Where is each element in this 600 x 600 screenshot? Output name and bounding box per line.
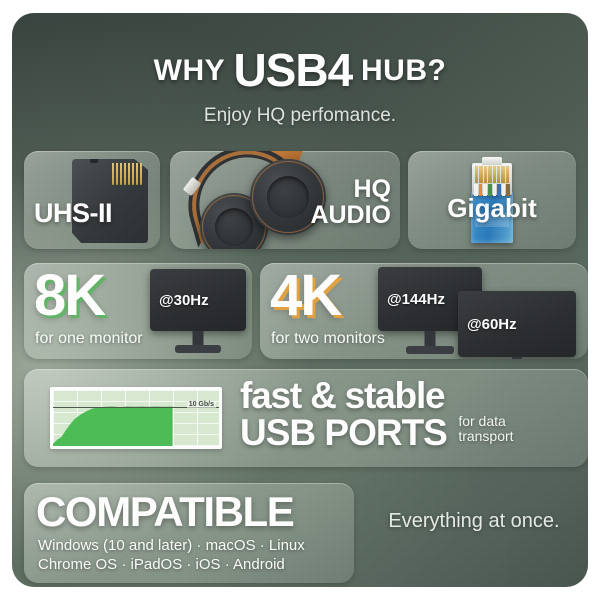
- headphones-icon: [176, 151, 326, 249]
- chart-threshold-label: 10 Gb/s: [187, 401, 216, 408]
- title-prefix: WHY: [154, 54, 234, 87]
- title-suffix: HUB?: [352, 54, 446, 87]
- speed-subnote: for data transport: [458, 414, 513, 445]
- speed-subnote-line1: for data: [458, 413, 505, 429]
- monitor-stand-neck: [512, 357, 522, 359]
- feature-label-uhs: UHS-II: [34, 200, 112, 227]
- compatibility-os-line2: Chrome OS · iPadOS · iOS · Android: [38, 556, 285, 573]
- monitor-30hz: @30Hz: [150, 269, 246, 331]
- microsd-notch: [90, 159, 98, 163]
- monitor-screen: @60Hz: [458, 291, 576, 357]
- speed-headline: fast & stable USB PORTS for data transpo…: [240, 378, 514, 452]
- microsd-pins: [112, 163, 142, 185]
- page-title: WHY USB4 HUB?: [12, 43, 588, 97]
- feature-card-audio: HQ AUDIO: [170, 151, 400, 249]
- page-subtitle: Enjoy HQ perfomance.: [12, 105, 588, 127]
- monitor-stand-base: [406, 346, 454, 354]
- refresh-rate-label: @60Hz: [458, 316, 517, 333]
- resolution-caption-8k: for one monitor: [35, 330, 143, 348]
- compatibility-os-line1: Windows (10 and later) · macOS · Linux: [38, 537, 305, 554]
- poster-header: WHY USB4 HUB? Enjoy HQ perfomance.: [12, 43, 588, 127]
- feature-label-gigabit: Gigabit: [447, 195, 537, 221]
- resolution-value-8k: 8K: [34, 267, 104, 325]
- speed-card: 10 Gb/s fast & stable USB PORTS for data…: [24, 369, 588, 467]
- poster-panel: WHY USB4 HUB? Enjoy HQ perfomance. UHS-I…: [12, 13, 588, 587]
- speed-headline-line1: fast & stable: [240, 378, 514, 414]
- chart-plot-area: 10 Gb/s: [53, 390, 219, 446]
- monitor-stand-base: [175, 345, 221, 353]
- refresh-rate-label: @30Hz: [150, 292, 209, 309]
- speed-headline-line2: USB PORTS: [240, 414, 447, 452]
- speed-subnote-line2: transport: [458, 428, 513, 444]
- monitor-screen: @30Hz: [150, 269, 246, 331]
- resolution-caption-4k: for two monitors: [271, 330, 385, 348]
- chart-area-series: [53, 390, 173, 446]
- resolution-card-4k: 4K for two monitors @144Hz @60Hz: [260, 263, 588, 359]
- resolution-value-4k: 4K: [270, 267, 340, 325]
- compatibility-card: COMPATIBLE Windows (10 and later) · macO…: [24, 483, 354, 583]
- refresh-rate-label: @144Hz: [378, 291, 445, 308]
- feature-label-audio: AUDIO: [310, 203, 391, 228]
- feature-card-uhs: UHS-II: [24, 151, 160, 249]
- title-main: USB4: [233, 44, 352, 96]
- poster-tagline: Everything at once.: [374, 510, 574, 533]
- compatibility-title: COMPATIBLE: [36, 491, 293, 533]
- feature-label-hq: HQ: [354, 177, 392, 202]
- throughput-chart: 10 Gb/s: [50, 387, 222, 449]
- feature-card-gigabit: Gigabit: [408, 151, 576, 249]
- resolution-card-8k: 8K for one monitor @30Hz: [24, 263, 252, 359]
- rj45-gold-pins: [475, 166, 509, 183]
- rj45-clip: [482, 157, 502, 165]
- monitor-60hz: @60Hz: [458, 291, 576, 357]
